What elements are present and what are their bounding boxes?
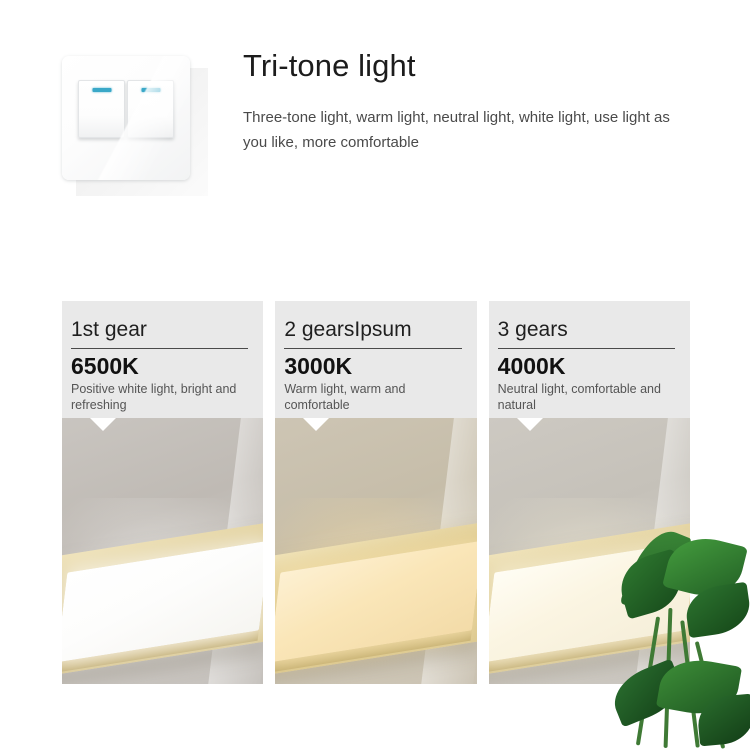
gear-caption: 3 gears 4000K Neutral light, comfortable… bbox=[489, 301, 690, 418]
wall-switch-image bbox=[58, 52, 208, 197]
gear-panel: 2 gearsIpsum 3000K Warm light, warm and … bbox=[275, 301, 476, 684]
caption-divider bbox=[284, 348, 461, 349]
caption-pointer-triangle bbox=[517, 418, 543, 431]
gear-caption: 2 gearsIpsum 3000K Warm light, warm and … bbox=[275, 301, 476, 418]
gear-panel-group: 1st gear 6500K Positive white light, bri… bbox=[62, 301, 690, 684]
color-temperature: 3000K bbox=[284, 353, 467, 380]
switch-rocker-group bbox=[78, 80, 174, 138]
led-indicator-icon bbox=[92, 88, 111, 92]
gear-description: Neutral light, comfortable and natural bbox=[498, 381, 681, 413]
page-title: Tri-tone light bbox=[243, 48, 416, 84]
page-subtitle: Three-tone light, warm light, neutral li… bbox=[243, 105, 675, 155]
color-temperature: 6500K bbox=[71, 353, 254, 380]
plant-decoration bbox=[612, 520, 750, 750]
switch-rocker-left bbox=[78, 80, 125, 138]
caption-divider bbox=[498, 348, 675, 349]
led-indicator-icon bbox=[141, 88, 160, 92]
switch-rocker-right bbox=[127, 80, 174, 138]
lamp-photo bbox=[275, 418, 476, 684]
gear-label: 1st gear bbox=[71, 317, 254, 343]
color-temperature: 4000K bbox=[498, 353, 681, 380]
gear-description: Positive white light, bright and refresh… bbox=[71, 381, 254, 413]
caption-pointer-triangle bbox=[303, 418, 329, 431]
hero-section: Tri-tone light Three-tone light, warm li… bbox=[0, 0, 750, 250]
gear-label: 2 gearsIpsum bbox=[284, 317, 467, 343]
gear-description: Warm light, warm and comfortable bbox=[284, 381, 467, 413]
caption-pointer-triangle bbox=[90, 418, 116, 431]
lamp-photo bbox=[62, 418, 263, 684]
gear-caption: 1st gear 6500K Positive white light, bri… bbox=[62, 301, 263, 418]
caption-divider bbox=[71, 348, 248, 349]
gear-panel: 1st gear 6500K Positive white light, bri… bbox=[62, 301, 263, 684]
gear-label: 3 gears bbox=[498, 317, 681, 343]
